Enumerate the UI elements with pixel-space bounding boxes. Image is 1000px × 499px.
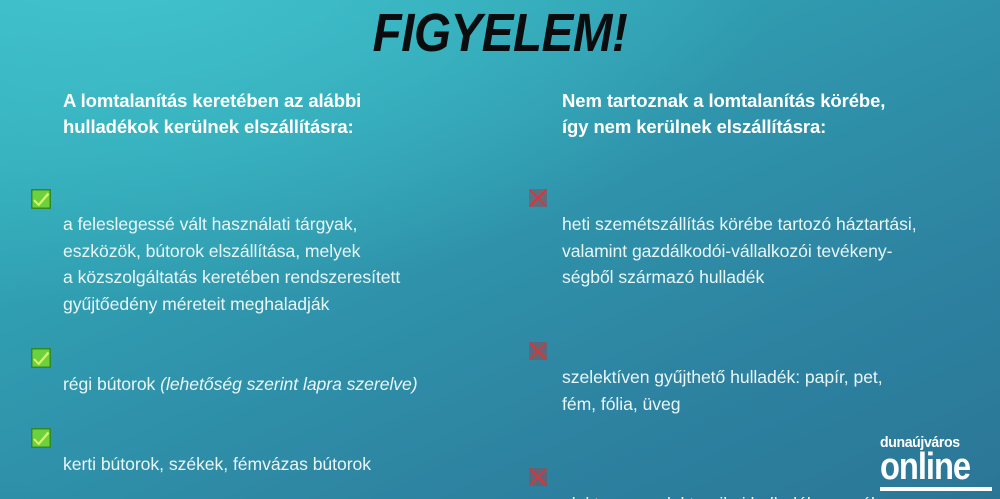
list-item-text: a feleslegessé vált használati tárgyak, … — [63, 214, 400, 314]
red-cross-icon — [528, 314, 548, 334]
list-item-text: régi bútorok — [63, 374, 160, 394]
list-item: a feleslegessé vált használati tárgyak, … — [31, 158, 500, 318]
list-item: régi bútorok (lehetőség szerint lapra sz… — [31, 318, 500, 398]
red-cross-icon — [528, 440, 548, 460]
list-item: elektromos, elektronikai hulladék, veszé… — [528, 437, 1000, 499]
list-item: kerti bútorok, székek, fémvázas bútorok — [31, 397, 500, 477]
list-item: régi kerékpár — [31, 477, 500, 499]
allowed-waste-column: A lomtalanítás keretében az alábbi hulla… — [0, 88, 500, 499]
list-item-text: elektromos, elektronikai hulladék, veszé… — [562, 494, 902, 499]
content-columns: A lomtalanítás keretében az alábbi hulla… — [0, 88, 1000, 499]
allowed-waste-heading: A lomtalanítás keretében az alábbi hulla… — [31, 88, 500, 140]
list-item-note: (lehetőség szerint lapra szerelve) — [160, 374, 417, 394]
green-check-icon — [31, 401, 51, 421]
green-check-icon — [31, 162, 51, 182]
excluded-waste-column: Nem tartoznak a lomtalanítás körébe, így… — [500, 88, 1000, 499]
allowed-waste-list: a feleslegessé vált használati tárgyak, … — [31, 158, 500, 499]
poster-canvas: FIGYELEM! A lomtalanítás keretében az al… — [0, 0, 1000, 499]
red-cross-icon — [528, 161, 548, 181]
green-check-icon — [31, 322, 51, 342]
list-item-text: kerti bútorok, székek, fémvázas bútorok — [63, 454, 371, 474]
list-item-text: heti szemétszállítás körébe tartozó házt… — [562, 214, 917, 287]
excluded-waste-heading: Nem tartoznak a lomtalanítás körébe, így… — [528, 88, 1000, 140]
list-item-text: szelektíven gyűjthető hulladék: papír, p… — [562, 367, 883, 414]
list-item: szelektíven gyűjthető hulladék: papír, p… — [528, 311, 1000, 417]
list-item: heti szemétszállítás körébe tartozó házt… — [528, 158, 1000, 291]
page-title: FIGYELEM! — [60, 4, 940, 62]
excluded-waste-list: heti szemétszállítás körébe tartozó házt… — [528, 158, 1000, 499]
green-check-icon — [31, 481, 51, 499]
